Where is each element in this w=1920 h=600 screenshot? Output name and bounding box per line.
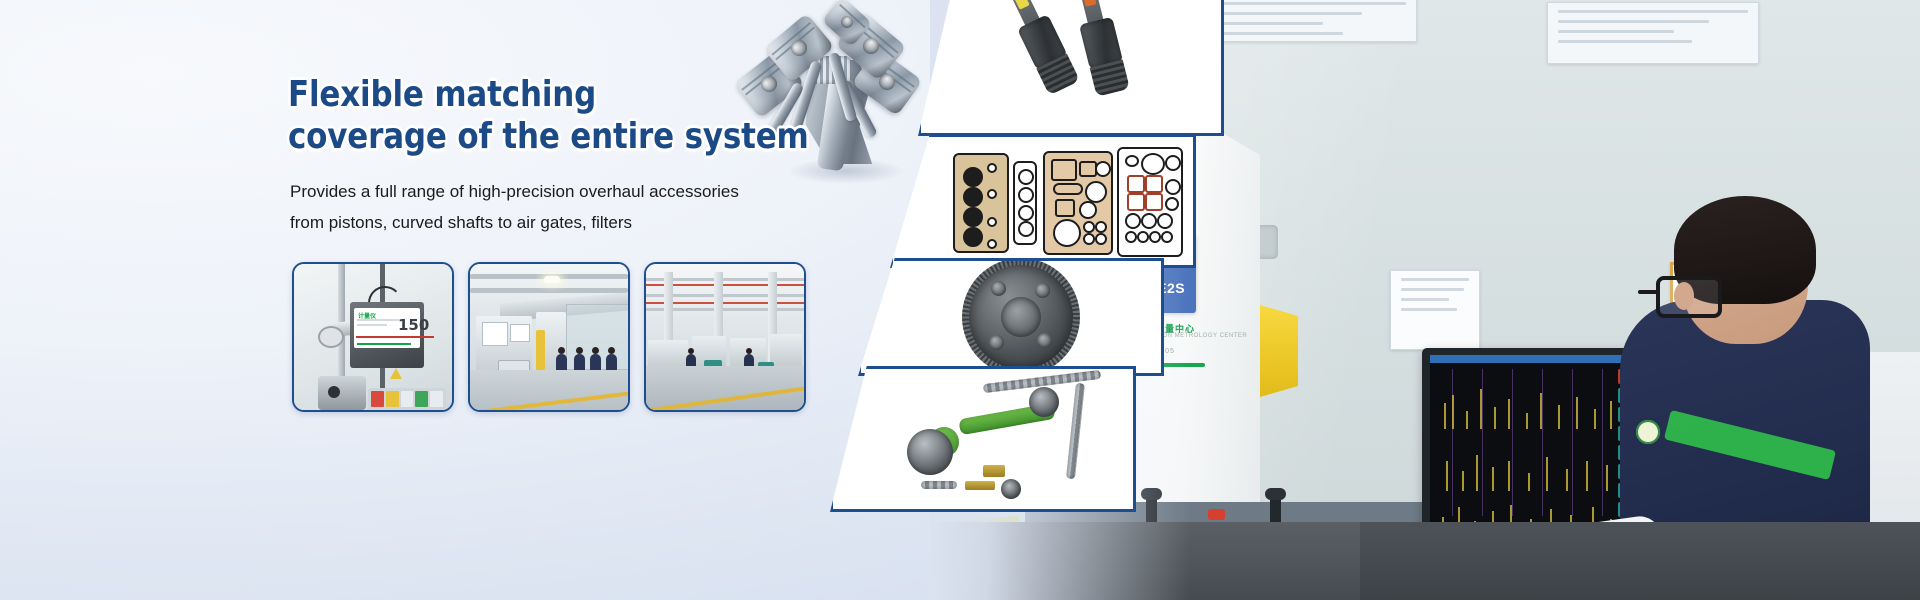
measurement-trace — [1436, 371, 1615, 429]
thumb-production-line[interactable] — [468, 262, 630, 412]
tensioner-bolt — [983, 465, 1005, 477]
panel-gasket-set[interactable] — [890, 134, 1196, 268]
head-gasket — [953, 153, 1009, 253]
crank-sprocket — [907, 429, 953, 475]
uniform-badge — [1636, 420, 1660, 444]
page-title: Flexible matching coverage of the entire… — [288, 74, 838, 158]
promo-banner: JD JE2S 精密计量中心 PRECISION METROLOGY CENTE… — [0, 0, 1920, 600]
operator-glasses — [1656, 276, 1722, 318]
thumb-workshop[interactable] — [644, 262, 806, 412]
warning-icon — [390, 368, 402, 379]
wall-notice — [1390, 270, 1480, 350]
thumb-cmm[interactable]: 计量仪 150 — [292, 262, 454, 412]
wall-notice — [1547, 2, 1759, 64]
manifold-gasket — [1013, 161, 1037, 245]
measurement-fixture — [318, 376, 366, 410]
safety-post — [536, 330, 545, 370]
timing-chain — [1066, 383, 1085, 479]
subtitle-line-1: Provides a full range of high-precision … — [290, 176, 850, 207]
label-underline — [356, 336, 434, 338]
control-panel-buttons[interactable] — [368, 388, 446, 410]
panel-timing-chain[interactable] — [830, 366, 1136, 512]
machine-document — [510, 324, 530, 342]
thumbnail-row: 计量仪 150 — [292, 262, 812, 410]
headline-line-2: coverage of the entire system — [288, 116, 838, 158]
cmm-joint — [318, 326, 344, 348]
cam-sprocket — [1029, 387, 1059, 417]
chain-link-segment — [921, 481, 957, 489]
headline-line-1: Flexible matching — [288, 74, 596, 115]
measurement-trace — [1436, 481, 1615, 522]
subtitle-line-2: from pistons, curved shafts to air gates… — [290, 207, 850, 238]
guide-bolt — [965, 481, 995, 490]
oil-pan-gasket — [1043, 151, 1113, 255]
panel-camshaft-gear[interactable] — [858, 258, 1164, 376]
workshop-floor — [646, 366, 804, 410]
measurement-value: 150 — [398, 316, 429, 334]
valve-cover-gasket — [1117, 147, 1183, 257]
subtitle: Provides a full range of high-precision … — [290, 176, 850, 238]
idler-sprocket — [1001, 479, 1021, 499]
camshaft-sprocket — [969, 265, 1073, 369]
cmm-yellow-guard — [1260, 305, 1298, 397]
machine-document — [482, 322, 508, 346]
panel-led-bulbs[interactable] — [918, 0, 1224, 136]
ceiling-lamp — [544, 276, 560, 283]
